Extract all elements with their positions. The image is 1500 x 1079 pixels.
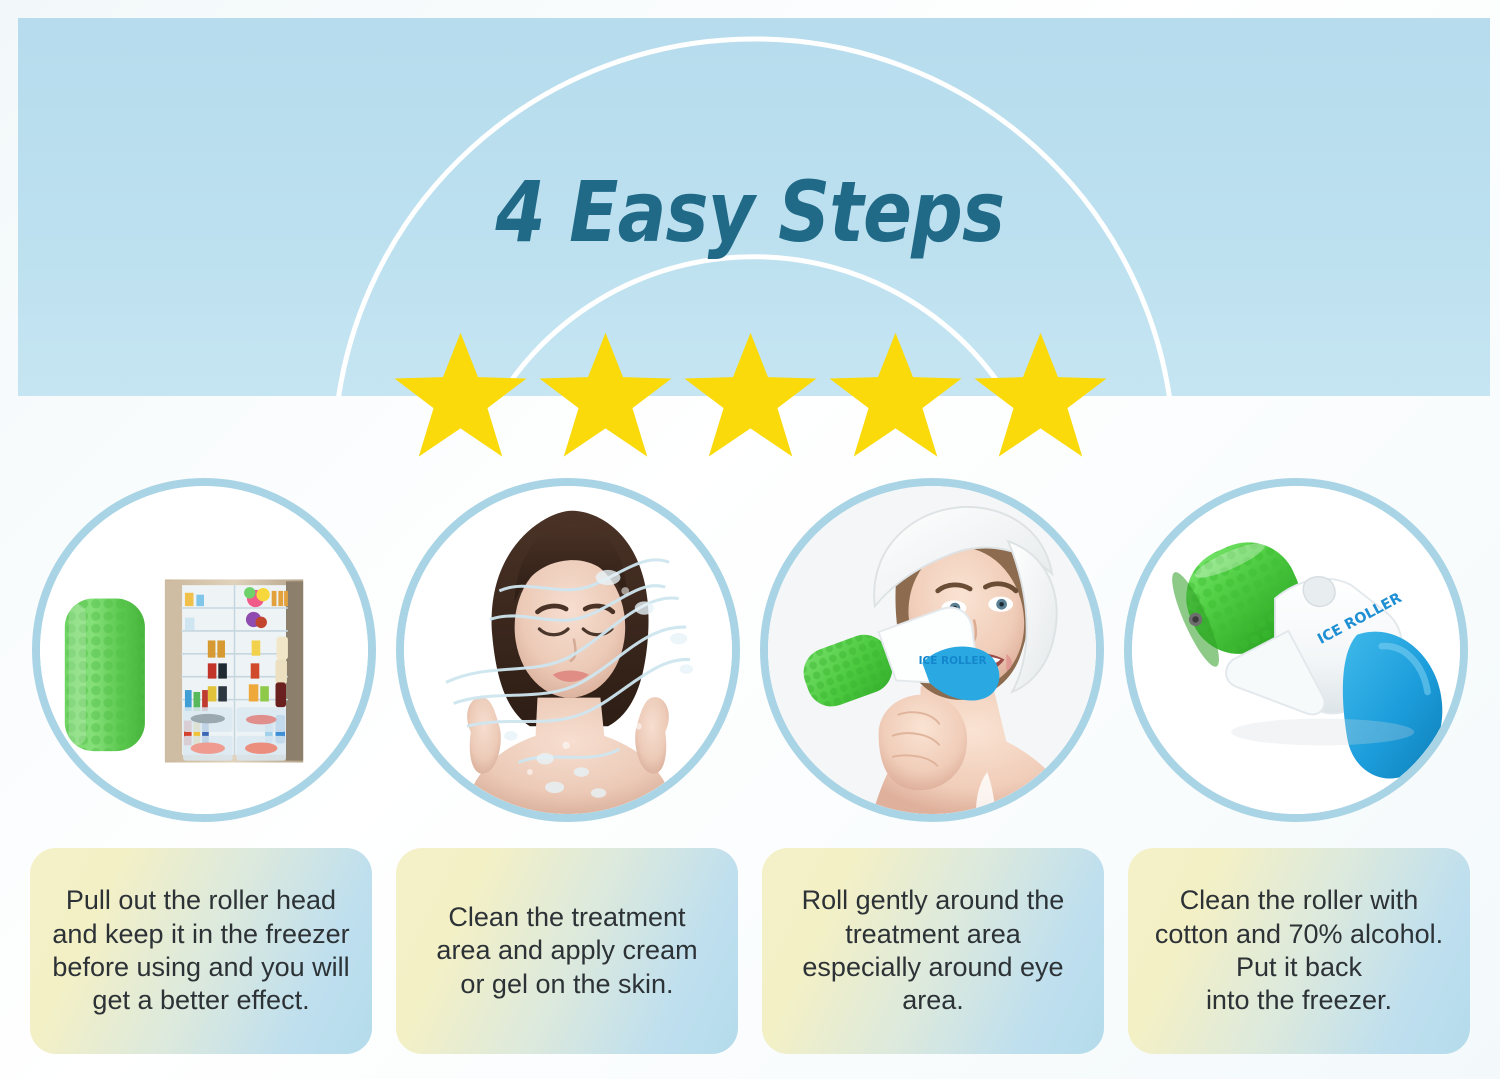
star-icon	[393, 330, 528, 458]
step-caption-text: Pull out the roller head and keep it in …	[52, 884, 349, 1018]
step-caption-1: Pull out the roller head and keep it in …	[30, 848, 372, 1054]
step-image-3: ICE ROLLER	[760, 478, 1104, 822]
page-title-wrap: 4 Easy Steps	[0, 168, 1500, 256]
ice-roller-product-photo: ICE ROLLER	[1132, 486, 1460, 814]
star-icon	[683, 330, 818, 458]
step-image-4: ICE ROLLER	[1124, 478, 1468, 822]
step-caption-3: Roll gently around the treatment area es…	[762, 848, 1104, 1054]
step-image-1	[32, 478, 376, 822]
svg-text:ICE ROLLER: ICE ROLLER	[919, 655, 987, 667]
step-caption-text: Clean the treatment area and apply cream…	[436, 901, 697, 1001]
step-caption-4: Clean the roller with cotton and 70% alc…	[1128, 848, 1470, 1054]
roller-head-and-refrigerator-photo	[40, 486, 368, 814]
star-icon	[828, 330, 963, 458]
star-icon	[538, 330, 673, 458]
star-rating	[0, 330, 1500, 460]
woman-using-ice-roller-photo: ICE ROLLER	[768, 486, 1096, 814]
page-title: 4 Easy Steps	[496, 168, 1005, 256]
woman-washing-face-photo	[404, 486, 732, 814]
star-icon	[973, 330, 1108, 458]
step-caption-text: Roll gently around the treatment area es…	[802, 884, 1065, 1018]
step-image-2	[396, 478, 740, 822]
promo-infographic: 4 Easy Steps	[0, 0, 1500, 1079]
step-caption-2: Clean the treatment area and apply cream…	[396, 848, 738, 1054]
step-captions-row: Pull out the roller head and keep it in …	[0, 848, 1500, 1056]
step-caption-text: Clean the roller with cotton and 70% alc…	[1155, 884, 1443, 1018]
step-images-row: ICE ROLLER	[0, 478, 1500, 826]
